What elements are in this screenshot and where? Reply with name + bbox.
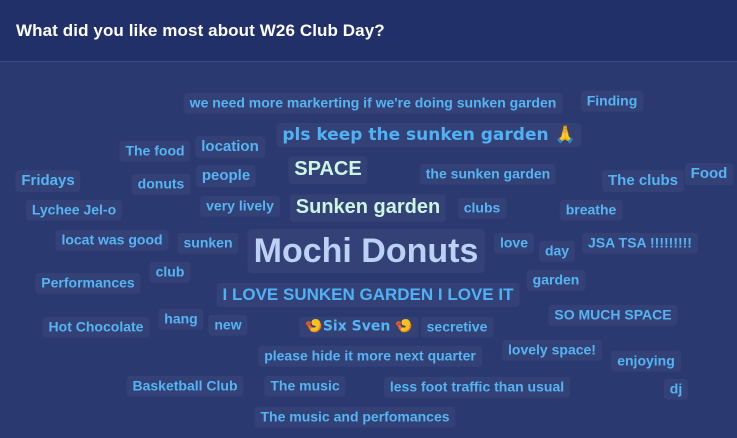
wordcloud-word[interactable]: SPACE — [288, 156, 367, 184]
wordcloud-word[interactable]: lovely space! — [502, 340, 602, 361]
wordcloud-word[interactable]: the sunken garden — [420, 164, 556, 185]
wordcloud-word[interactable]: Food — [685, 163, 734, 185]
wordcloud-word[interactable]: JSA TSA !!!!!!!!! — [582, 233, 698, 254]
wordcloud-word[interactable]: less foot traffic than usual — [384, 377, 570, 398]
wordcloud-page: What did you like most about W26 Club Da… — [0, 0, 737, 438]
wordcloud-word[interactable]: we need more markerting if we're doing s… — [184, 93, 563, 114]
page-title: What did you like most about W26 Club Da… — [16, 21, 385, 41]
wordcloud-word[interactable]: enjoying — [611, 351, 681, 372]
wordcloud-word[interactable]: 🍤Six Sven 🍤 — [299, 317, 418, 338]
wordcloud-word[interactable]: location — [195, 136, 265, 158]
wordcloud-word[interactable]: The music — [264, 376, 345, 397]
wordcloud-word[interactable]: Finding — [581, 91, 644, 112]
wordcloud-word[interactable]: Hot Chocolate — [43, 317, 150, 338]
wordcloud-word[interactable]: day — [539, 241, 575, 262]
wordcloud-word[interactable]: Basketball Club — [126, 376, 243, 397]
wordcloud-word[interactable]: SO MUCH SPACE — [548, 305, 677, 326]
wordcloud-word[interactable]: locat was good — [55, 230, 168, 251]
wordcloud-word[interactable]: club — [150, 262, 191, 283]
wordcloud-word[interactable]: breathe — [560, 200, 623, 221]
wordcloud-word[interactable]: Mochi Donuts — [248, 229, 485, 273]
wordcloud-word[interactable]: please hide it more next quarter — [258, 346, 482, 367]
wordcloud-word[interactable]: people — [196, 165, 256, 187]
wordcloud-word[interactable]: sunken — [177, 233, 238, 254]
wordcloud-word[interactable]: Sunken garden — [290, 194, 446, 222]
wordcloud-word[interactable]: garden — [527, 270, 586, 291]
wordcloud-word[interactable]: Lychee Jel-o — [26, 200, 122, 221]
wordcloud-word[interactable]: Fridays — [15, 170, 80, 192]
wordcloud-word[interactable]: I LOVE SUNKEN GARDEN I LOVE IT — [217, 283, 520, 307]
wordcloud-word[interactable]: donuts — [132, 174, 191, 195]
wordcloud-word[interactable]: secretive — [421, 317, 494, 338]
wordcloud-word[interactable]: pls keep the sunken garden 🙏 — [276, 123, 581, 147]
wordcloud-word[interactable]: love — [494, 233, 534, 254]
wordcloud-word[interactable]: dj — [664, 379, 688, 400]
wordcloud-word[interactable]: The clubs — [602, 170, 684, 192]
wordcloud-word[interactable]: very lively — [200, 196, 280, 217]
page-header: What did you like most about W26 Club Da… — [0, 0, 737, 62]
wordcloud-word[interactable]: clubs — [458, 198, 507, 219]
wordcloud-canvas: we need more markerting if we're doing s… — [0, 62, 737, 438]
wordcloud-word[interactable]: new — [208, 315, 247, 336]
wordcloud-word[interactable]: hang — [158, 309, 203, 330]
wordcloud-word[interactable]: The music and perfomances — [254, 407, 455, 428]
wordcloud-word[interactable]: The food — [119, 141, 190, 162]
wordcloud-word[interactable]: Performances — [35, 273, 140, 294]
